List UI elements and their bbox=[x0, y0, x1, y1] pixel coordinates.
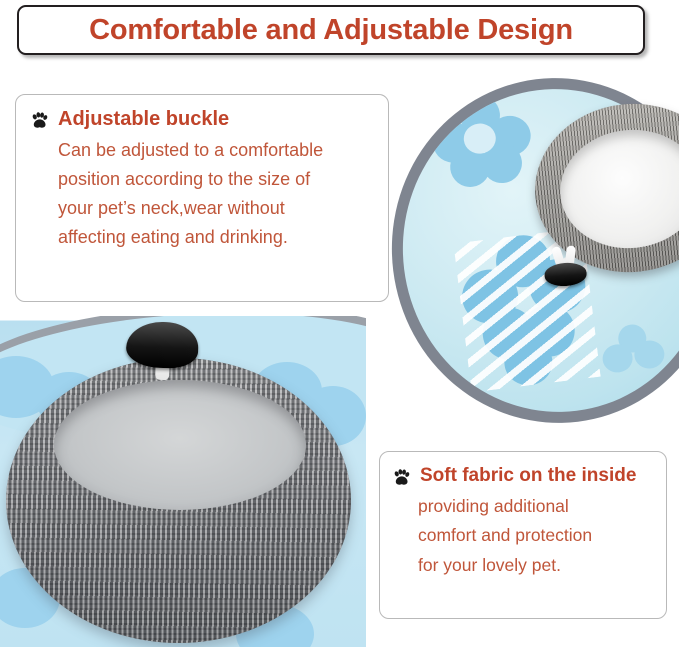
feature-card-body-line: providing additional bbox=[418, 492, 654, 521]
pet-collar-knit-closeup-image bbox=[0, 316, 366, 647]
feature-card-body: providing additional comfort and protect… bbox=[392, 490, 654, 580]
collar-disc bbox=[392, 78, 679, 423]
title-banner: Comfortable and Adjustable Design bbox=[17, 5, 645, 55]
collar-opening bbox=[54, 380, 306, 510]
feature-card-adjustable-buckle: Adjustable buckle Can be adjusted to a c… bbox=[15, 94, 389, 302]
collar-disc-background bbox=[0, 316, 366, 647]
knit-neck-band bbox=[6, 358, 351, 643]
adjustable-buckle bbox=[125, 321, 201, 386]
feature-card-body: Can be adjusted to a comfortable positio… bbox=[30, 134, 374, 253]
feature-card-title: Soft fabric on the inside bbox=[420, 464, 636, 488]
page-title: Comfortable and Adjustable Design bbox=[89, 16, 573, 45]
feature-card-header: Soft fabric on the inside bbox=[392, 464, 654, 488]
paw-print-icon bbox=[392, 468, 411, 487]
feature-card-body-line: for your lovely pet. bbox=[418, 551, 654, 580]
buckle-clip bbox=[125, 321, 199, 369]
feature-card-body-line: affecting eating and drinking. bbox=[58, 223, 374, 252]
feature-card-soft-fabric: Soft fabric on the inside providing addi… bbox=[379, 451, 667, 619]
feature-card-body-line: your pet’s neck,wear without bbox=[58, 194, 374, 223]
buckle-clip bbox=[544, 262, 588, 288]
flower-pattern-icon bbox=[599, 321, 667, 384]
feature-card-body-line: position according to the size of bbox=[58, 165, 374, 194]
pet-recovery-collar-full-view-image bbox=[376, 78, 679, 433]
feature-card-body-line: comfort and protection bbox=[418, 521, 654, 550]
adjustable-buckle bbox=[541, 244, 590, 287]
feature-card-body-line: Can be adjusted to a comfortable bbox=[58, 136, 374, 165]
paw-print-icon bbox=[30, 111, 49, 130]
feature-card-title: Adjustable buckle bbox=[58, 107, 229, 132]
feature-card-header: Adjustable buckle bbox=[30, 107, 374, 132]
